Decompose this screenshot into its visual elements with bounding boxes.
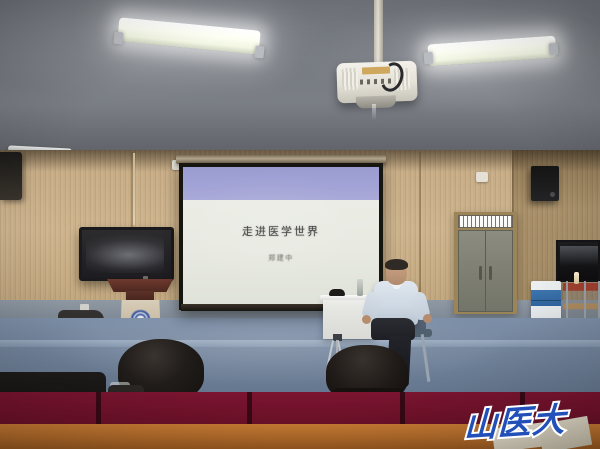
- door-handle[interactable]: [489, 266, 492, 280]
- watermark-logo: 山医大: [463, 392, 566, 447]
- cabinet-seam: [531, 300, 561, 301]
- tube-endcap: [254, 46, 264, 59]
- water-bottle: [357, 279, 363, 296]
- presenter-hair: [385, 259, 408, 270]
- projector-mount-pole: [374, 0, 383, 70]
- projected-slide: 走进医学世界 郑建中: [183, 167, 379, 306]
- tube-endcap: [424, 52, 434, 65]
- presenter-hand-left: [362, 315, 371, 324]
- door-handle[interactable]: [479, 266, 482, 280]
- tube-endcap: [549, 43, 559, 56]
- lectern-neck: [126, 291, 154, 301]
- speaker-right: [531, 166, 559, 201]
- projector-vent: [342, 68, 359, 91]
- door-center-seam: [485, 230, 486, 312]
- wall-sensor-box: [476, 172, 488, 182]
- projector-beam: [372, 104, 376, 120]
- projector-lens: [356, 95, 396, 108]
- speaker-left: [0, 152, 22, 200]
- slide-title: 走进医学世界: [183, 223, 379, 239]
- tv-glare: [560, 246, 598, 266]
- slide-header-band: [183, 167, 379, 200]
- presenter-hand-right: [423, 314, 432, 323]
- transom-grill: [459, 216, 512, 227]
- shoe-on-table: [329, 289, 345, 296]
- tube-endcap: [113, 32, 123, 45]
- slide-author: 郑建中: [183, 253, 379, 263]
- lecture-hall-photo: 走进医学世界 郑建中 山医大: [0, 0, 600, 449]
- monitor-glare: [86, 233, 164, 273]
- blue-cabinet: [531, 281, 561, 321]
- hanging-cable: [133, 153, 135, 225]
- projection-screen: 走进医学世界 郑建中: [179, 163, 383, 310]
- cart-lamp: [574, 272, 579, 284]
